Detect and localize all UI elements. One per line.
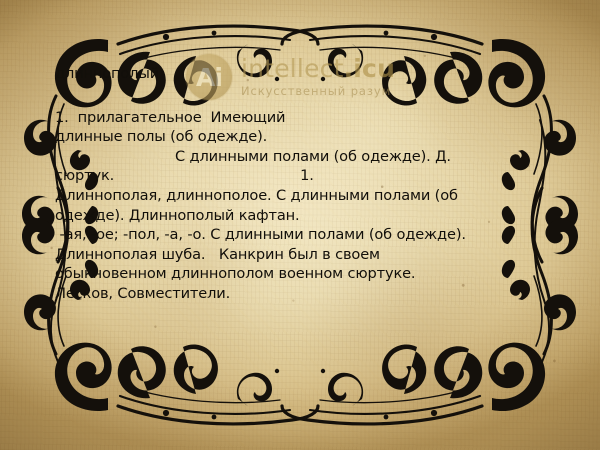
citation-source: Лесков, Совместители.	[55, 284, 547, 304]
definition-line-6: одежде). Длиннополый кафтан.	[55, 206, 547, 226]
definition-line-1: 1. прилагательное Имеющий	[55, 108, 547, 128]
parchment-page: Ai intellect.icu Искусственный разум дли…	[0, 0, 600, 450]
definition-line-8: Длиннополая шуба. Канкрин был в своем	[55, 245, 547, 265]
headword: длиннополый	[55, 64, 547, 84]
definition-line-7: -ая, -ое; -пол, -а, -о. С длинными полам…	[55, 225, 547, 245]
dictionary-article: длиннополый 1. прилагательное Имеющий дл…	[55, 64, 547, 304]
definition-line-4-text: сюртук.	[55, 167, 114, 184]
definition-line-4: сюртук.1.	[55, 166, 547, 186]
definition-line-9: обыкновенном длиннополом военном сюртуке…	[55, 264, 547, 284]
sense-number-trailing: 1.	[300, 166, 314, 186]
definition-line-5: Длиннополая, длиннополое. С длинными пол…	[55, 186, 547, 206]
definition-line-3: С длинными полами (об одежде). Д.	[55, 147, 547, 167]
definition-line-2: длинные полы (об одежде).	[55, 127, 547, 147]
